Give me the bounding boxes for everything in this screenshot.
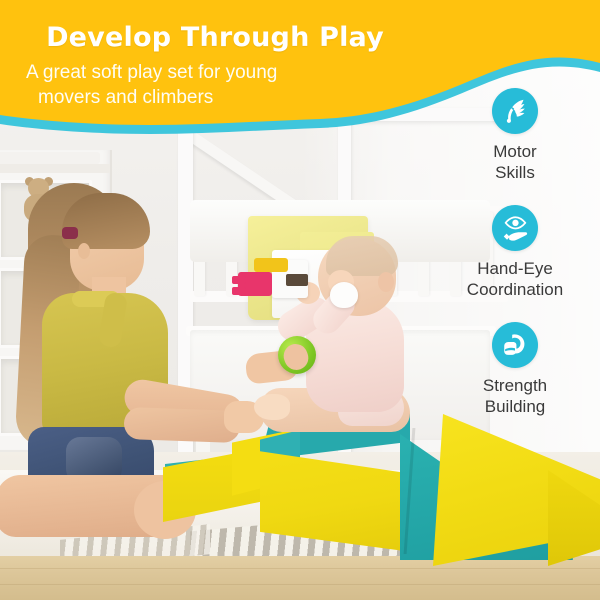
woman-ear bbox=[78, 243, 90, 259]
baby-ear bbox=[378, 272, 394, 292]
hand-eye-icon bbox=[499, 213, 531, 243]
feature-label-line-1: Hand-Eye bbox=[477, 259, 553, 278]
subtitle-line-1: A great soft play set for young bbox=[26, 62, 277, 83]
product-banner-image: Develop Through Play A great soft play s… bbox=[0, 0, 600, 600]
block-pink-peg bbox=[232, 287, 246, 295]
block-pink-peg bbox=[232, 276, 246, 284]
strength-badge bbox=[492, 322, 538, 368]
baby-foot bbox=[254, 394, 290, 420]
block-dark bbox=[286, 274, 308, 286]
feature-strength-building: Strength Building bbox=[440, 322, 590, 417]
strength-icon bbox=[500, 330, 530, 360]
motor-skills-badge bbox=[492, 88, 538, 134]
feature-motor-skills: Motor Skills bbox=[440, 88, 590, 183]
woman-hair-tie bbox=[62, 227, 78, 239]
banner-subtitle: A great soft play set for young movers a… bbox=[26, 60, 406, 110]
feature-label-line-2: Coordination bbox=[467, 280, 563, 299]
block-yellow bbox=[254, 258, 288, 272]
feature-label: Strength Building bbox=[440, 375, 590, 417]
feature-label: Hand-Eye Coordination bbox=[440, 258, 590, 300]
motor-skills-icon bbox=[500, 96, 530, 126]
feature-badge-list: Motor Skills Hand-Eye Coo bbox=[440, 88, 590, 433]
feature-label-line-2: Building bbox=[485, 397, 546, 416]
building-blocks-toy bbox=[232, 258, 314, 304]
feature-label: Motor Skills bbox=[440, 141, 590, 183]
white-toy bbox=[330, 282, 358, 308]
feature-label-line-1: Motor bbox=[493, 142, 536, 161]
feature-label-line-2: Skills bbox=[495, 163, 535, 182]
shelf-trim bbox=[0, 152, 100, 164]
feature-hand-eye-coordination: Hand-Eye Coordination bbox=[440, 205, 590, 300]
subtitle-line-2: movers and climbers bbox=[26, 85, 213, 110]
page-title: Develop Through Play bbox=[0, 22, 430, 53]
hand-eye-badge bbox=[492, 205, 538, 251]
feature-label-line-1: Strength bbox=[483, 376, 547, 395]
woman-hair-top bbox=[62, 193, 150, 249]
